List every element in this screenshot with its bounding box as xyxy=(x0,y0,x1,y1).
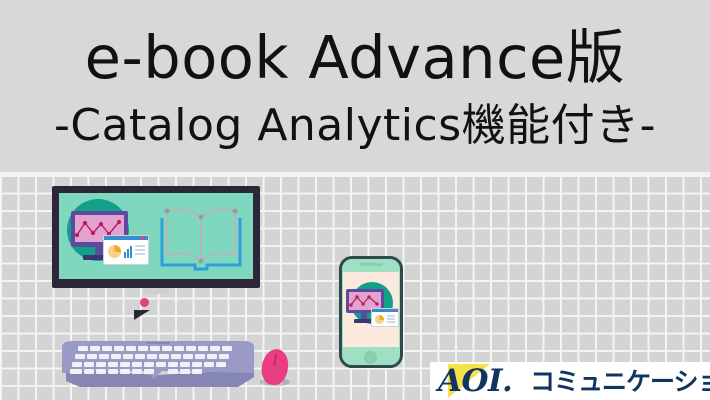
presentation-slide: e-book Advance版 -Catalog Analytics機能付き- xyxy=(0,0,710,400)
pie-chart-icon xyxy=(108,245,121,258)
stand-triangle xyxy=(134,310,150,320)
brand-logo: AOI. コミュニケーションズ xyxy=(430,362,710,400)
page-subtitle: -Catalog Analytics機能付き- xyxy=(0,104,710,148)
logo-wordmark: AOI. xyxy=(438,364,512,398)
logo-kana-text: コミュニケーションズ xyxy=(530,368,710,396)
text-line xyxy=(387,321,395,323)
accent-dot xyxy=(140,298,149,307)
keyboard-illustration xyxy=(58,337,258,389)
text-line xyxy=(387,318,395,320)
monitor-screen xyxy=(59,193,253,279)
bar-icon xyxy=(130,246,132,258)
mouse-scroll-wheel xyxy=(273,354,277,366)
open-book-icon xyxy=(157,203,245,273)
text-line xyxy=(387,315,395,317)
headline-block: e-book Advance版 -Catalog Analytics機能付き- xyxy=(0,0,710,148)
monitor-neck xyxy=(95,247,103,255)
bar-icon xyxy=(127,249,129,258)
report-window-icon xyxy=(371,308,399,327)
phone-speaker xyxy=(359,263,383,266)
smartphone-illustration xyxy=(339,256,403,368)
text-line xyxy=(135,253,145,255)
window-close-icon xyxy=(393,310,396,312)
phone-home-button xyxy=(364,351,377,364)
bar-icon xyxy=(124,252,126,258)
monitor-stem xyxy=(144,288,168,294)
window-close-icon xyxy=(141,237,145,240)
phone-screen xyxy=(343,272,399,347)
pie-chart-icon xyxy=(375,315,384,324)
text-line xyxy=(135,245,145,247)
desktop-computer-illustration xyxy=(52,186,260,306)
page-title: e-book Advance版 xyxy=(0,28,710,87)
text-line xyxy=(135,249,145,251)
report-window-icon xyxy=(103,235,149,265)
